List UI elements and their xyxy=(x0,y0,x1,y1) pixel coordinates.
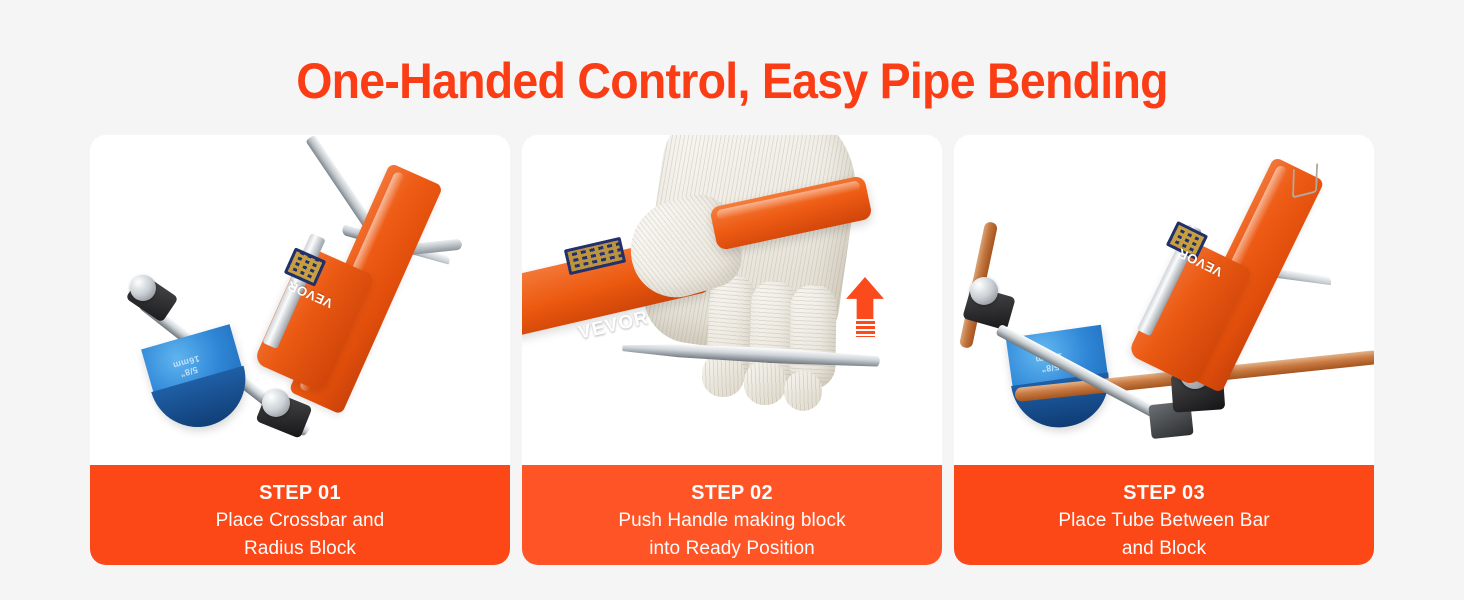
up-arrow-icon xyxy=(846,277,884,319)
step-1-desc-line2: Radius Block xyxy=(90,534,510,562)
page-title: One-Handed Control, Easy Pipe Bending xyxy=(51,52,1413,110)
motion-lines-icon xyxy=(856,321,875,337)
glove-fingertip-2 xyxy=(744,361,786,405)
roller-knob-left xyxy=(970,277,998,305)
step-1-caption: STEP 01 Place Crossbar and Radius Block xyxy=(90,465,510,565)
step-3-desc-line1: Place Tube Between Bar xyxy=(954,506,1374,534)
infographic-page: One-Handed Control, Easy Pipe Bending 5/… xyxy=(0,0,1464,600)
roller-knob-left xyxy=(130,275,156,301)
step-2-label: STEP 02 xyxy=(522,481,942,506)
steps-row: 5/8" 16mm VEVOR STEP 01 Place Crossbar a… xyxy=(90,135,1374,565)
step-1-desc-line1: Place Crossbar and xyxy=(90,506,510,534)
step-2-photo: VEVOR xyxy=(522,135,942,465)
step-card-2: VEVOR STEP 02 Push Handle making block i… xyxy=(522,135,942,565)
roller-knob-right xyxy=(262,389,290,417)
step-card-1: 5/8" 16mm VEVOR STEP 01 Place Crossbar a… xyxy=(90,135,510,565)
step-1-photo: 5/8" 16mm VEVOR xyxy=(90,135,510,465)
step-2-desc-line1: Push Handle making block xyxy=(522,506,942,534)
step-3-desc-line2: and Block xyxy=(954,534,1374,562)
step-2-desc-line2: into Ready Position xyxy=(522,534,942,562)
step-3-label: STEP 03 xyxy=(954,481,1374,506)
step-3-photo: 5/8" 16mm VEVOR xyxy=(954,135,1374,465)
step-card-3: 5/8" 16mm VEVOR STEP 03 Place Tube Betwe… xyxy=(954,135,1374,565)
step-3-caption: STEP 03 Place Tube Between Bar and Block xyxy=(954,465,1374,565)
step-2-caption: STEP 02 Push Handle making block into Re… xyxy=(522,465,942,565)
step-1-label: STEP 01 xyxy=(90,481,510,506)
glove-fingertip-3 xyxy=(784,371,822,411)
